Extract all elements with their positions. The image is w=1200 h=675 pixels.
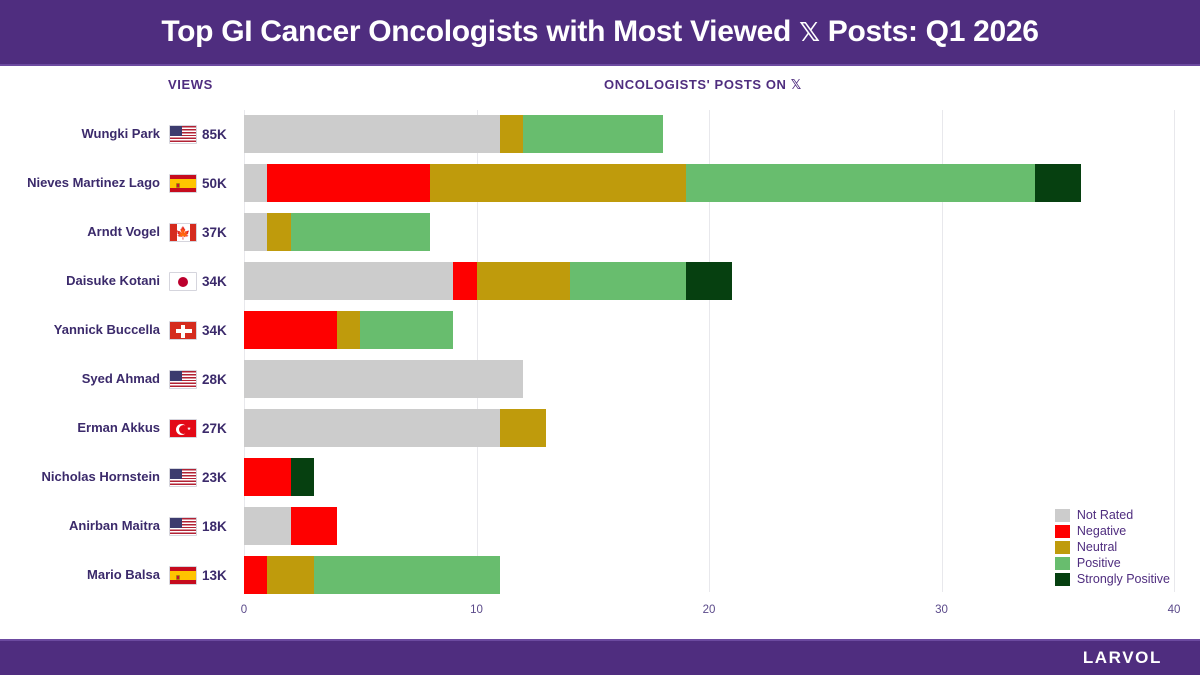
bar-segment-positive[interactable] (314, 556, 500, 594)
bar-segment-not-rated[interactable] (244, 213, 267, 251)
views-value: 28K (202, 355, 238, 404)
stacked-bar[interactable] (244, 213, 430, 251)
stacked-bar[interactable] (244, 409, 546, 447)
chart-row[interactable]: Erman Akkus27K (0, 404, 1200, 453)
bar-segment-negative[interactable] (453, 262, 476, 300)
country-flag (168, 355, 198, 404)
oncologist-name-label: Anirban Maitra (0, 502, 160, 551)
oncologist-name-label: Nicholas Hornstein (0, 453, 160, 502)
bar-segment-not-rated[interactable] (244, 115, 500, 153)
bar-segment-not-rated[interactable] (244, 360, 523, 398)
country-flag: 🍁 (168, 208, 198, 257)
flag-icon-jp (169, 272, 197, 291)
stacked-bar[interactable] (244, 262, 732, 300)
flag-icon-tr (169, 419, 197, 438)
bar-segment-negative[interactable] (291, 507, 338, 545)
column-headings: VIEWS ONCOLOGISTS' POSTS ON 𝕏 (0, 66, 1200, 100)
views-value: 27K (202, 404, 238, 453)
page-title: Top GI Cancer Oncologists with Most View… (161, 15, 1038, 49)
chart-page: Top GI Cancer Oncologists with Most View… (0, 0, 1200, 675)
chart-row[interactable]: Yannick Buccella34K (0, 306, 1200, 355)
country-flag (168, 159, 198, 208)
oncologist-name-label: Daisuke Kotani (0, 257, 160, 306)
flag-icon-ch (169, 321, 197, 340)
legend-swatch (1055, 525, 1070, 538)
bar-segment-negative[interactable] (244, 556, 267, 594)
stacked-bar[interactable] (244, 360, 523, 398)
bar-segment-neutral[interactable] (267, 213, 290, 251)
bar-segment-not-rated[interactable] (244, 409, 500, 447)
x-axis: 010203040 (244, 604, 1174, 624)
legend-swatch (1055, 509, 1070, 522)
posts-column-heading: ONCOLOGISTS' POSTS ON 𝕏 (604, 77, 802, 93)
bar-segment-negative[interactable] (267, 164, 430, 202)
page-footer: LARVOL (0, 639, 1200, 675)
bar-segment-neutral[interactable] (430, 164, 686, 202)
bar-segment-not-rated[interactable] (244, 507, 291, 545)
legend-swatch (1055, 557, 1070, 570)
x-axis-tick-label: 10 (470, 604, 483, 616)
legend-item[interactable]: Not Rated (1055, 508, 1133, 522)
country-flag (168, 110, 198, 159)
views-value: 18K (202, 502, 238, 551)
views-value: 13K (202, 551, 238, 600)
country-flag (168, 404, 198, 453)
bar-segment-positive[interactable] (570, 262, 686, 300)
flag-icon-es (169, 174, 197, 193)
bar-segment-neutral[interactable] (477, 262, 570, 300)
views-value: 34K (202, 257, 238, 306)
oncologist-name-label: Mario Balsa (0, 551, 160, 600)
bar-segment-neutral[interactable] (500, 115, 523, 153)
bar-segment-positive[interactable] (523, 115, 663, 153)
country-flag (168, 306, 198, 355)
legend-item[interactable]: Negative (1055, 524, 1126, 538)
views-value: 34K (202, 306, 238, 355)
legend-item[interactable]: Strongly Positive (1055, 572, 1170, 586)
x-axis-tick-label: 20 (703, 604, 716, 616)
legend-item[interactable]: Positive (1055, 556, 1121, 570)
bar-segment-positive[interactable] (291, 213, 431, 251)
flag-icon-us (169, 125, 197, 144)
flag-icon-ca: 🍁 (169, 223, 197, 242)
oncologist-name-label: Wungki Park (0, 110, 160, 159)
stacked-bar[interactable] (244, 311, 453, 349)
chart-row[interactable]: Wungki Park85K (0, 110, 1200, 159)
views-value: 50K (202, 159, 238, 208)
x-logo-icon: 𝕏 (799, 18, 820, 48)
chart-row[interactable]: Daisuke Kotani34K (0, 257, 1200, 306)
stacked-bar[interactable] (244, 507, 337, 545)
bar-segment-strongly-positive[interactable] (291, 458, 314, 496)
flag-icon-us (169, 370, 197, 389)
oncologist-name-label: Arndt Vogel (0, 208, 160, 257)
bar-segment-neutral[interactable] (500, 409, 547, 447)
flag-icon-us (169, 517, 197, 536)
x-axis-tick-label: 30 (935, 604, 948, 616)
bar-segment-positive[interactable] (360, 311, 453, 349)
legend-swatch (1055, 573, 1070, 586)
chart-legend: Not RatedNegativeNeutralPositiveStrongly… (1055, 508, 1170, 586)
views-value: 23K (202, 453, 238, 502)
legend-swatch (1055, 541, 1070, 554)
oncologist-name-label: Syed Ahmad (0, 355, 160, 404)
legend-label: Not Rated (1077, 508, 1133, 522)
views-value: 85K (202, 110, 238, 159)
page-title-text-before: Top GI Cancer Oncologists with Most View… (161, 15, 799, 48)
larvol-logo: LARVOL (1083, 648, 1162, 668)
country-flag (168, 502, 198, 551)
page-header: Top GI Cancer Oncologists with Most View… (0, 0, 1200, 66)
bar-segment-not-rated[interactable] (244, 164, 267, 202)
chart-area: Wungki Park85KNieves Martinez Lago50KArn… (0, 110, 1200, 610)
flag-icon-es (169, 566, 197, 585)
legend-label: Positive (1077, 556, 1121, 570)
views-value: 37K (202, 208, 238, 257)
flag-icon-us (169, 468, 197, 487)
bar-segment-negative[interactable] (244, 311, 337, 349)
bar-segment-positive[interactable] (686, 164, 1035, 202)
x-axis-tick-label: 0 (241, 604, 247, 616)
legend-label: Negative (1077, 524, 1126, 538)
legend-item[interactable]: Neutral (1055, 540, 1117, 554)
bar-segment-strongly-positive[interactable] (686, 262, 733, 300)
country-flag (168, 257, 198, 306)
bar-segment-neutral[interactable] (337, 311, 360, 349)
bar-segment-neutral[interactable] (267, 556, 314, 594)
stacked-bar[interactable] (244, 164, 1081, 202)
oncologist-name-label: Nieves Martinez Lago (0, 159, 160, 208)
chart-row[interactable]: Syed Ahmad28K (0, 355, 1200, 404)
oncologist-name-label: Yannick Buccella (0, 306, 160, 355)
page-title-text-after: Posts: Q1 2026 (820, 15, 1039, 48)
posts-column-heading-text: ONCOLOGISTS' POSTS ON (604, 77, 791, 92)
views-column-heading: VIEWS (168, 77, 213, 92)
x-logo-icon-small: 𝕏 (791, 78, 802, 93)
legend-label: Strongly Positive (1077, 572, 1170, 586)
bar-segment-not-rated[interactable] (244, 262, 453, 300)
chart-row[interactable]: Arndt Vogel🍁37K (0, 208, 1200, 257)
x-axis-tick-label: 40 (1168, 604, 1181, 616)
oncologist-name-label: Erman Akkus (0, 404, 160, 453)
chart-row[interactable]: Anirban Maitra18K (0, 502, 1200, 551)
legend-label: Neutral (1077, 540, 1117, 554)
stacked-bar[interactable] (244, 115, 663, 153)
chart-row[interactable]: Nieves Martinez Lago50K (0, 159, 1200, 208)
chart-row[interactable]: Nicholas Hornstein23K (0, 453, 1200, 502)
stacked-bar[interactable] (244, 458, 314, 496)
country-flag (168, 453, 198, 502)
chart-row[interactable]: Mario Balsa13K (0, 551, 1200, 600)
stacked-bar[interactable] (244, 556, 500, 594)
country-flag (168, 551, 198, 600)
bar-segment-negative[interactable] (244, 458, 291, 496)
bar-segment-strongly-positive[interactable] (1035, 164, 1082, 202)
